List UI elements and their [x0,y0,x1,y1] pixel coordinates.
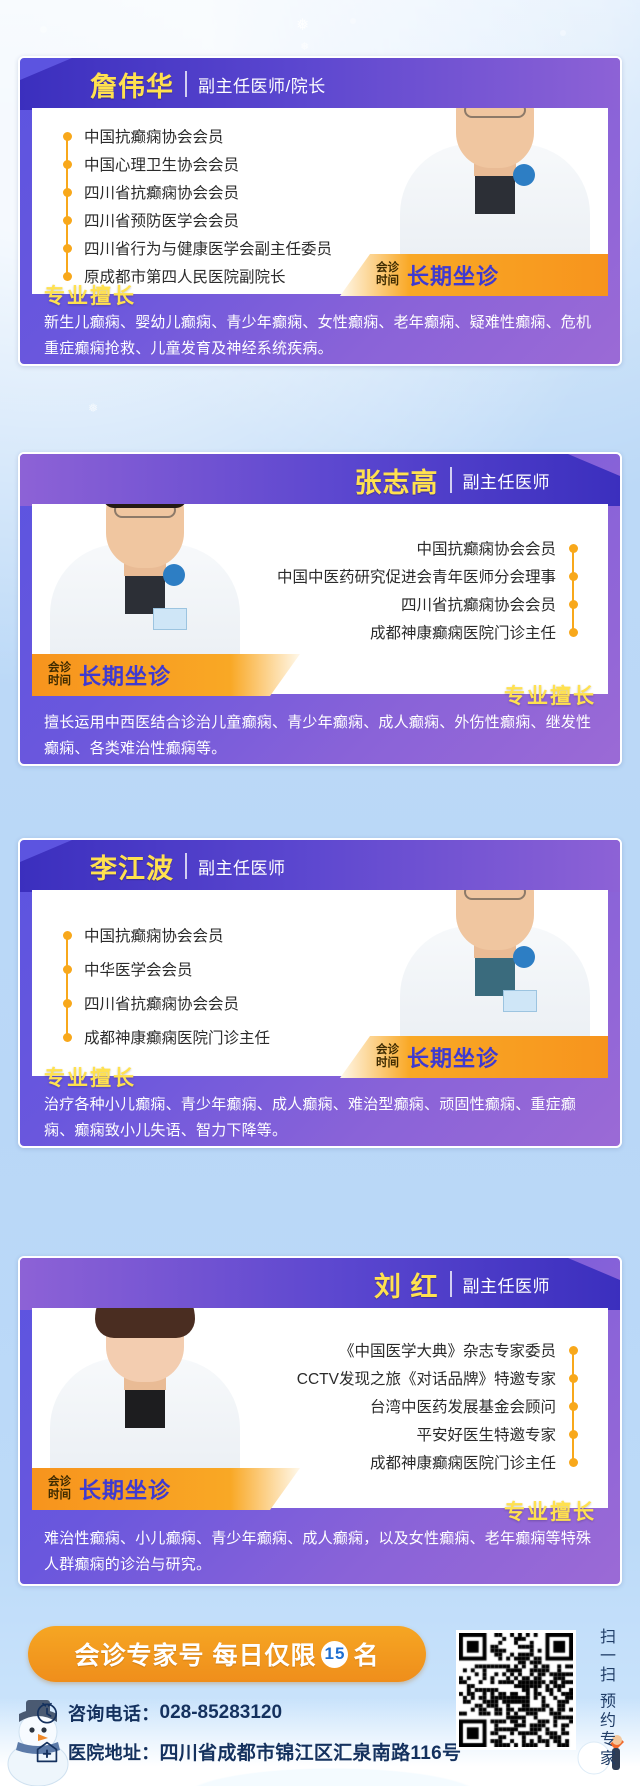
credential-text: CCTV发现之旅《对话品牌》特邀专家 [289,1367,564,1389]
doctor-card[interactable]: 李江波 副主任医师 中国抗癫痫协会会员 中华医学会会员 四川省抗癫痫协会会员 成… [18,838,622,1148]
list-item: 《中国医学大典》杂志专家委员 [289,1336,582,1364]
doctor-name: 李江波 [90,847,174,886]
credentials-list: 中国抗癫痫协会会员 中国中医药研究促进会青年医师分会理事 四川省抗癫痫协会会员 … [269,534,582,646]
bullet-icon [63,272,72,281]
list-item: CCTV发现之旅《对话品牌》特邀专家 [289,1364,582,1392]
doctor-name-banner: 刘 红 副主任医师 [20,1258,620,1310]
consult-time-value: 长期坐诊 [79,659,171,691]
specialty-text: 擅长运用中西医结合诊治儿童癫痫、青少年癫痫、成人癫痫、外伤性癫痫、继发性癫痫、各… [44,710,596,762]
credential-text: 四川省行为与健康医学会副主任委员 [76,237,340,259]
credentials-list: 《中国医学大典》杂志专家委员 CCTV发现之旅《对话品牌》特邀专家 台湾中医药发… [289,1336,582,1476]
bullet-icon [63,188,72,197]
list-item: 成都神康癫痫医院门诊主任 [58,1020,278,1054]
bullet-icon [569,544,578,553]
divider [450,1271,452,1297]
hospital-icon [34,1739,60,1765]
credential-text: 四川省抗癫痫协会会员 [76,992,247,1014]
doctor-name-banner: 詹伟华 副主任医师/院长 [20,58,620,110]
specialty-text: 新生儿癫痫、婴幼儿癫痫、青少年癫痫、女性癫痫、老年癫痫、疑难性癫痫、危机重症癫痫… [44,310,596,362]
divider [185,71,187,97]
doctor-card[interactable]: 张志高 副主任医师 中国抗癫痫协会会员 中国中医药研究促进会青年医师分会理事 四… [18,452,622,766]
footer: 会诊专家号 每日仅限 15 名 咨询电话： 028-85283120 医院地址：… [0,1600,640,1786]
list-item: 中国中医药研究促进会青年医师分会理事 [269,562,582,590]
credential-text: 中国抗癫痫协会会员 [408,537,564,559]
credential-text: 台湾中医药发展基金会顾问 [362,1395,564,1417]
doctor-name-banner: 李江波 副主任医师 [20,840,620,892]
credential-text: 成都神康癫痫医院门诊主任 [362,621,564,643]
credential-text: 四川省预防医学会会员 [76,209,247,231]
doctor-title: 副主任医师/院长 [198,72,326,97]
consult-time-badge: 会诊 时间 长期坐诊 [32,1468,300,1510]
doctor-name: 刘 红 [374,1265,439,1304]
doctor-card[interactable]: 詹伟华 副主任医师/院长 中国抗癫痫协会会员 中国心理卫生协会会员 四川省抗癫痫… [18,56,622,366]
bullet-icon [569,1374,578,1383]
credential-text: 平安好医生特邀专家 [408,1423,564,1445]
consult-time-label: 会诊 时间 [48,1476,71,1502]
clock-icon [34,1700,60,1726]
credential-text: 成都神康癫痫医院门诊主任 [76,1026,278,1048]
credential-text: 中国心理卫生协会会员 [76,153,247,175]
list-item: 中国抗癫痫协会会员 [58,122,340,150]
phone-value[interactable]: 028-85283120 [160,1702,283,1724]
list-item: 四川省预防医学会会员 [58,206,340,234]
specialty-heading: 专业擅长 [44,1062,136,1092]
credential-text: 中国抗癫痫协会会员 [76,924,232,946]
credentials-list: 中国抗癫痫协会会员 中国心理卫生协会会员 四川省抗癫痫协会会员 四川省预防医学会… [58,122,340,290]
bullet-icon [569,1402,578,1411]
divider [450,467,452,493]
snowflake-icon: ❅ [300,42,309,53]
snowflake-icon: ❅ [88,402,98,414]
bullet-icon [63,160,72,169]
cta-prefix: 会诊专家号 每日仅限 [75,1636,317,1672]
list-item: 四川省抗癫痫协会会员 [58,986,278,1020]
credential-text: 四川省抗癫痫协会会员 [393,593,564,615]
doctor-title: 副主任医师 [198,854,286,879]
list-item: 平安好医生特邀专家 [289,1420,582,1448]
list-item: 成都神康癫痫医院门诊主任 [289,1448,582,1476]
divider [185,853,187,879]
bullet-icon [63,965,72,974]
phone-row: 咨询电话： 028-85283120 [34,1700,282,1726]
consult-time-value: 长期坐诊 [79,1473,171,1505]
list-item: 中国抗癫痫协会会员 [58,918,278,952]
doctor-name-banner: 张志高 副主任医师 [20,454,620,506]
snowflake-icon: ❅ [296,18,309,34]
specialty-heading: 专业擅长 [44,280,136,310]
list-item: 中国抗癫痫协会会员 [269,534,582,562]
consult-time-badge: 会诊 时间 长期坐诊 [340,254,608,296]
doctor-name: 张志高 [355,461,439,500]
bullet-icon [569,628,578,637]
consult-time-label: 会诊 时间 [376,1044,399,1070]
address-row: 医院地址： 四川省成都市锦江区汇泉南路116号 [34,1738,461,1765]
bullet-icon [63,132,72,141]
qr-side-label: 扫一扫 预约专家 [590,1628,616,1768]
doctor-title: 副主任医师 [463,1272,551,1297]
bullet-icon [63,999,72,1008]
phone-label: 咨询电话： [68,1700,160,1726]
credential-text: 中国中医药研究促进会青年医师分会理事 [269,565,564,587]
list-item: 中华医学会会员 [58,952,278,986]
bullet-icon [63,1033,72,1042]
bullet-icon [569,572,578,581]
credential-text: 中华医学会会员 [76,958,201,980]
consult-time-label: 会诊 时间 [48,662,71,688]
address-value: 四川省成都市锦江区汇泉南路116号 [160,1738,462,1765]
cta-banner[interactable]: 会诊专家号 每日仅限 15 名 [28,1626,426,1682]
address-label: 医院地址： [68,1739,160,1765]
specialty-text: 难治性癫痫、小儿癫痫、青少年癫痫、成人癫痫，以及女性癫痫、老年癫痫等特殊人群癫痫… [44,1526,596,1578]
consult-time-label: 会诊 时间 [376,262,399,288]
doctor-card[interactable]: 刘 红 副主任医师 《中国医学大典》杂志专家委员 CCTV发现之旅《对话品牌》特… [18,1256,622,1586]
specialty-heading: 专业擅长 [504,1496,596,1526]
list-item: 中国心理卫生协会会员 [58,150,340,178]
consult-time-badge: 会诊 时间 长期坐诊 [340,1036,608,1078]
specialty-heading: 专业擅长 [504,680,596,710]
credential-text: 中国抗癫痫协会会员 [76,125,232,147]
cta-quota-number: 15 [321,1641,348,1668]
credential-text: 《中国医学大典》杂志专家委员 [331,1339,564,1361]
credentials-list: 中国抗癫痫协会会员 中华医学会会员 四川省抗癫痫协会会员 成都神康癫痫医院门诊主… [58,918,278,1054]
bullet-icon [63,216,72,225]
list-item: 成都神康癫痫医院门诊主任 [269,618,582,646]
credential-text: 成都神康癫痫医院门诊主任 [362,1451,564,1473]
consult-time-value: 长期坐诊 [407,259,499,291]
bullet-icon [569,600,578,609]
cta-suffix: 名 [353,1636,379,1672]
list-item: 四川省行为与健康医学会副主任委员 [58,234,340,262]
credential-text: 四川省抗癫痫协会会员 [76,181,247,203]
consult-time-badge: 会诊 时间 长期坐诊 [32,654,300,696]
bullet-icon [569,1430,578,1439]
list-item: 台湾中医药发展基金会顾问 [289,1392,582,1420]
doctor-name: 詹伟华 [90,65,174,104]
bullet-icon [569,1346,578,1355]
qr-code[interactable] [456,1630,576,1750]
bullet-icon [569,1458,578,1467]
bullet-icon [63,244,72,253]
specialty-text: 治疗各种小儿癫痫、青少年癫痫、成人癫痫、难治型癫痫、顽固性癫痫、重症癫痫、癫痫致… [44,1092,596,1144]
doctor-title: 副主任医师 [463,468,551,493]
consult-time-value: 长期坐诊 [407,1041,499,1073]
list-item: 四川省抗癫痫协会会员 [58,178,340,206]
list-item: 四川省抗癫痫协会会员 [269,590,582,618]
bullet-icon [63,931,72,940]
